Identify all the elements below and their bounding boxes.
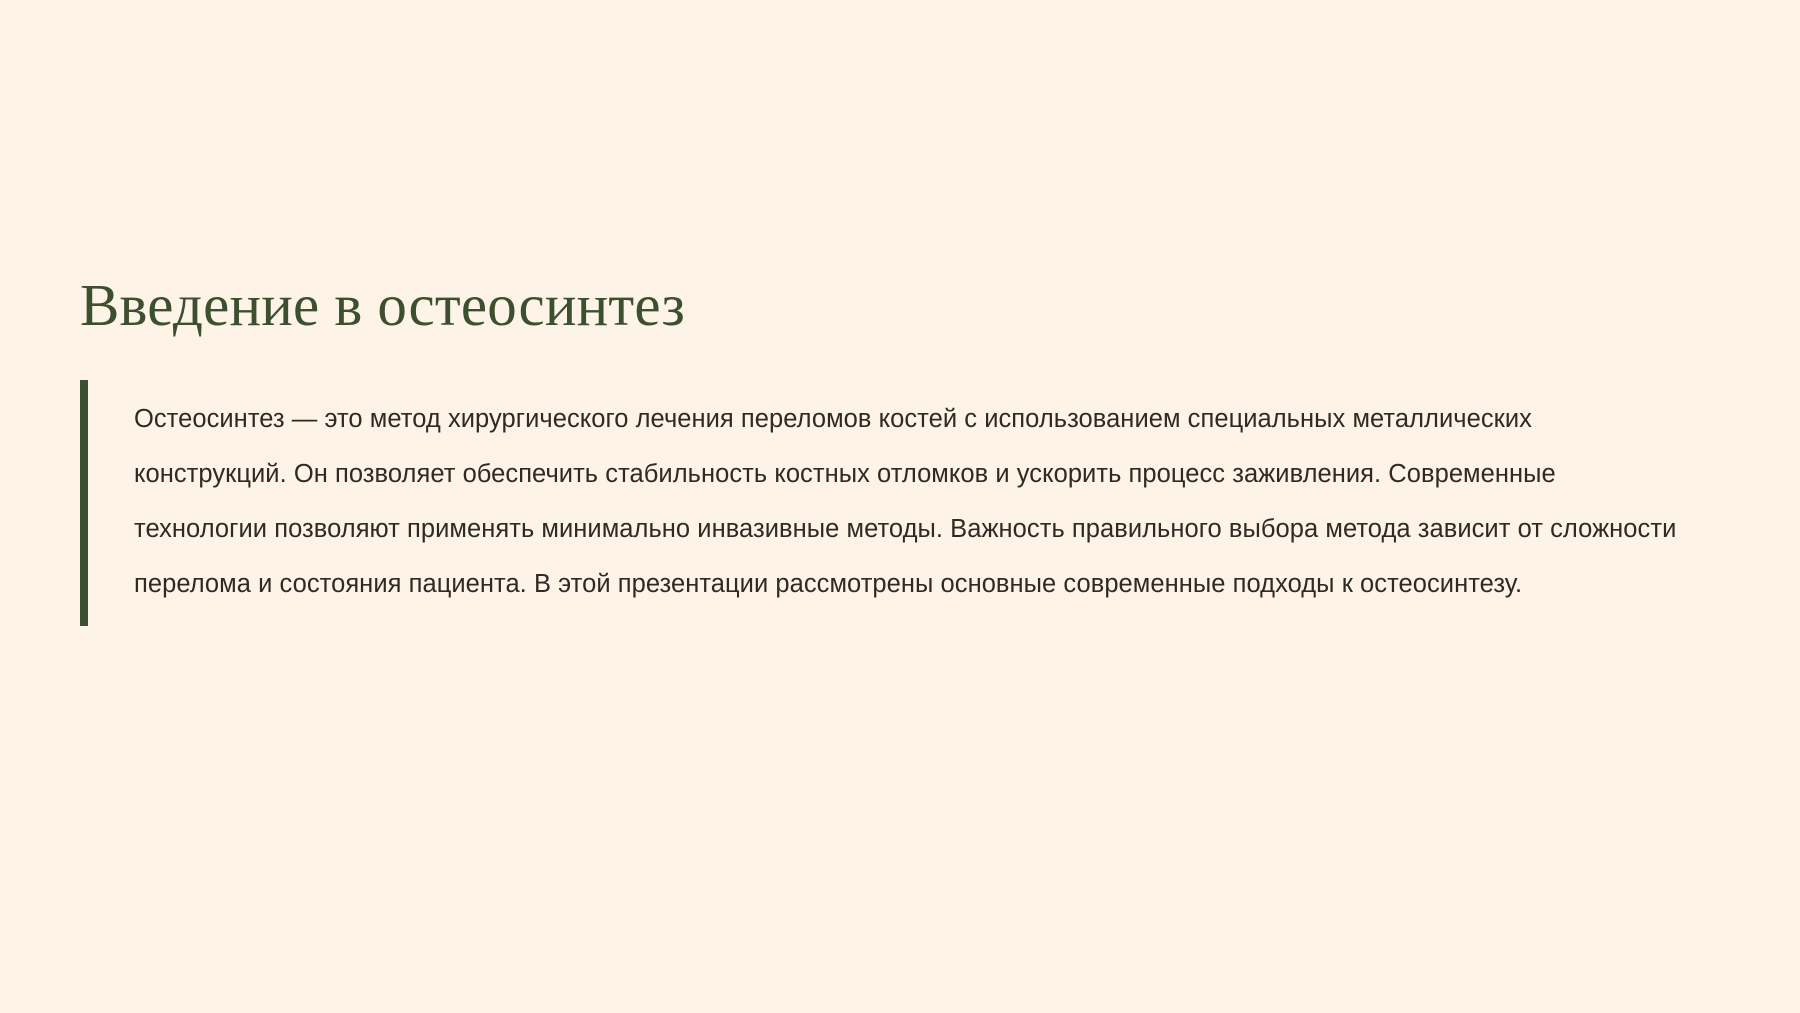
body-callout: Остеосинтез — это метод хирургического л… xyxy=(80,380,1685,626)
body-text-container: Остеосинтез — это метод хирургического л… xyxy=(88,380,1685,626)
body-paragraph: Остеосинтез — это метод хирургического л… xyxy=(134,392,1685,612)
presentation-slide: Введение в остеосинтез Остеосинтез — это… xyxy=(0,0,1800,1013)
page-title: Введение в остеосинтез xyxy=(80,272,1700,338)
slide-content: Введение в остеосинтез Остеосинтез — это… xyxy=(80,272,1700,626)
accent-bar xyxy=(80,380,88,626)
